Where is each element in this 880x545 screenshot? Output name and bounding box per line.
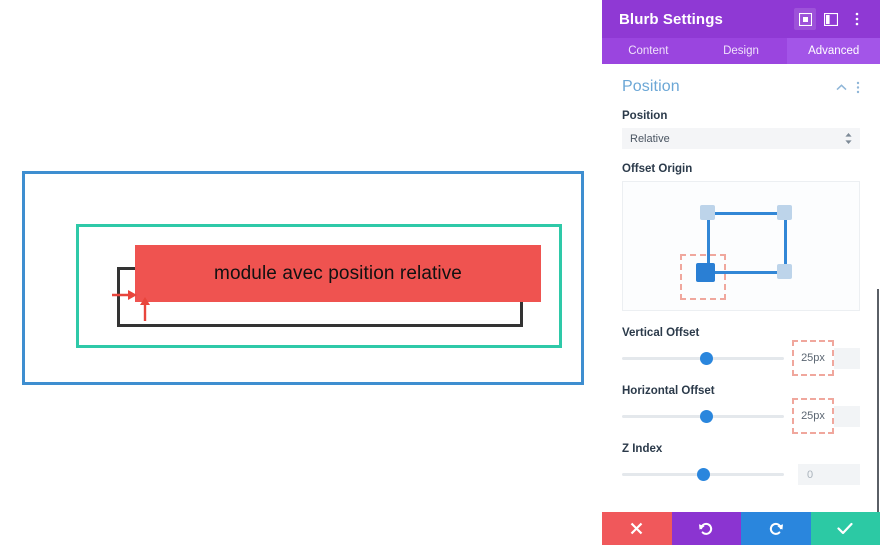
offset-origin-group: Offset Origin [622,163,860,311]
vertical-offset-arrow-icon [139,297,151,323]
horizontal-offset-value-highlight: 25px [792,398,834,434]
panel-title: Blurb Settings [619,11,790,28]
layout-toggle-icon[interactable] [820,8,842,30]
origin-line-top [707,212,787,215]
vertical-offset-slider[interactable] [622,357,784,360]
z-index-group: Z Index 0 [622,443,860,485]
horizontal-offset-input[interactable]: 25px [798,406,860,427]
horizontal-offset-slider[interactable] [622,415,784,418]
position-select-value: Relative [630,133,845,145]
vertical-offset-label: Vertical Offset [622,327,860,339]
origin-handle-bottom-left[interactable] [696,263,715,282]
vertical-offset-value-highlight: 25px [792,340,834,376]
cancel-button[interactable] [602,512,672,545]
focus-icon[interactable] [794,8,816,30]
offset-origin-picker[interactable] [622,181,860,311]
kebab-menu-icon[interactable] [846,8,868,30]
redo-button[interactable] [741,512,811,545]
z-index-slider-handle[interactable] [697,468,710,481]
position-section-header: Position [622,78,860,96]
builder-canvas: module avec position relative [0,0,602,545]
horizontal-offset-group: Horizontal Offset 25px [622,385,860,427]
blurb-module[interactable]: module avec position relative [135,245,541,302]
position-section-title: Position [622,78,827,96]
origin-handle-top-right[interactable] [777,205,792,220]
chevron-updown-icon [845,133,852,144]
z-index-label: Z Index [622,443,860,455]
horizontal-offset-slider-handle[interactable] [700,410,713,423]
panel-body: Position Position Relative [602,64,880,512]
position-field-label: Position [622,110,860,122]
panel-scrollbar[interactable] [877,289,879,512]
vertical-offset-slider-handle[interactable] [700,352,713,365]
z-index-placeholder: 0 [807,469,813,481]
tab-design[interactable]: Design [695,38,788,64]
panel-tabs: Content Design Advanced [602,38,880,64]
save-button[interactable] [811,512,880,545]
section-outline[interactable]: module avec position relative [22,171,584,385]
blurb-settings-panel: Blurb Settings [602,0,880,545]
undo-button[interactable] [672,512,742,545]
blurb-module-label: module avec position relative [214,263,462,285]
z-index-input[interactable]: 0 [798,464,860,485]
row-outline[interactable]: module avec position relative [76,224,562,348]
tab-content[interactable]: Content [602,38,695,64]
tab-advanced[interactable]: Advanced [787,38,880,64]
z-index-slider[interactable] [622,473,784,476]
panel-header: Blurb Settings [602,0,880,38]
origin-handle-top-left[interactable] [700,205,715,220]
origin-handle-bottom-right[interactable] [777,264,792,279]
vertical-offset-input[interactable]: 25px [798,348,860,369]
position-select[interactable]: Relative [622,128,860,149]
section-kebab-menu-icon[interactable] [856,81,860,94]
origin-line-bottom [707,271,787,274]
app-root: module avec position relative Blurb Sett… [0,0,880,545]
offset-origin-label: Offset Origin [622,163,860,175]
horizontal-offset-arrow-icon [110,289,138,301]
horizontal-offset-label: Horizontal Offset [622,385,860,397]
panel-action-bar [602,512,880,545]
chevron-up-icon[interactable] [836,84,847,91]
vertical-offset-group: Vertical Offset 25px [622,327,860,369]
